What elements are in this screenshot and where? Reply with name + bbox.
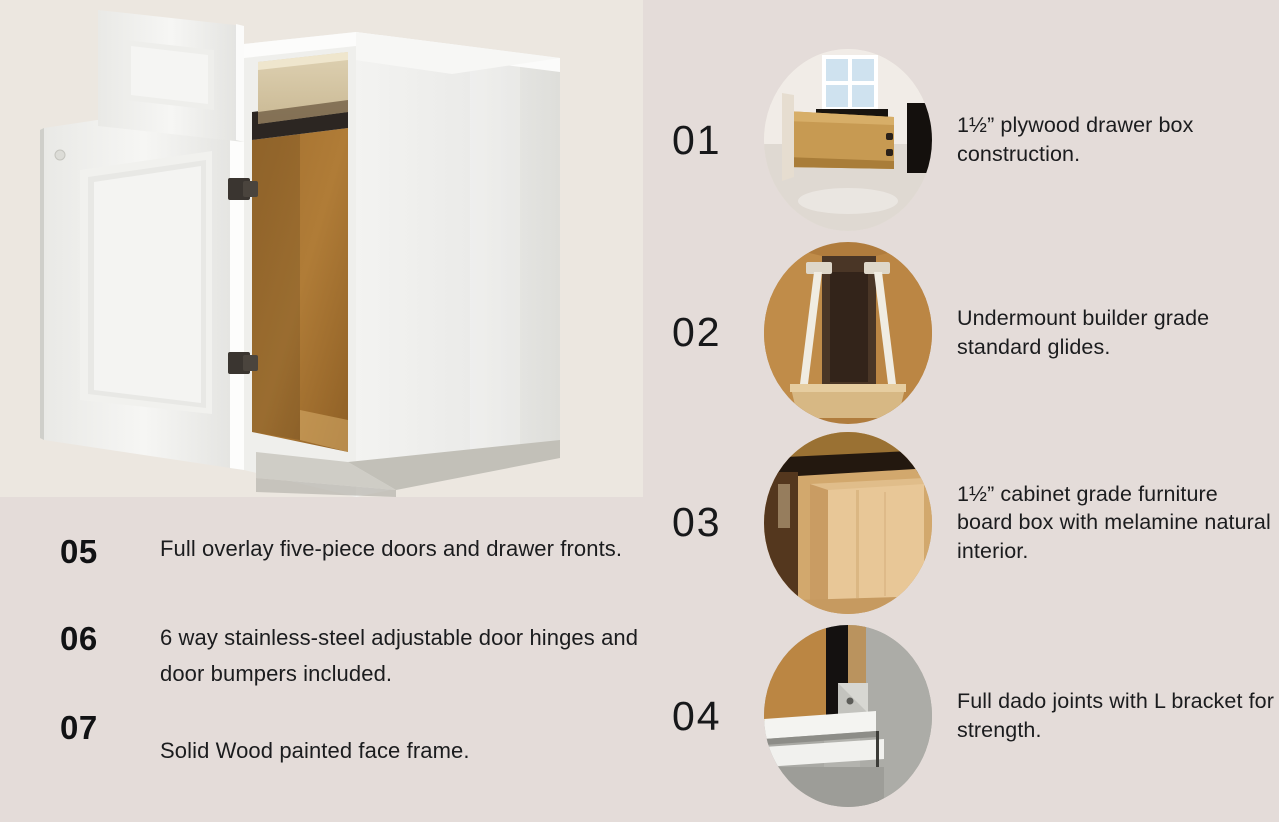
feature-text-06: 6 way stainless-steel adjustable door hi… bbox=[160, 620, 640, 691]
feature-item-04: 04 Full dado j bbox=[672, 620, 1279, 812]
feature-text-05: Full overlay five-piece doors and drawer… bbox=[160, 533, 640, 564]
feature-item-02: 02 Undermount builder grade standard gli… bbox=[672, 240, 1279, 425]
melamine-interior-photo bbox=[764, 432, 932, 614]
glides-illustration bbox=[764, 242, 932, 424]
feature-item-03: 03 1½” cabinet grade furniture board box… bbox=[672, 425, 1279, 620]
feature-item-05: 05 Full overlay five-piece doors and dra… bbox=[60, 533, 640, 572]
drawer-box-photo bbox=[764, 49, 932, 231]
feature-text-02: Undermount builder grade standard glides… bbox=[932, 304, 1279, 361]
feature-number-03: 03 bbox=[672, 502, 764, 543]
feature-text-04: Full dado joints with L bracket for stre… bbox=[932, 687, 1279, 744]
feature-item-07: 07 Solid Wood painted face frame. bbox=[60, 735, 640, 774]
melamine-box-illustration bbox=[764, 432, 932, 614]
undermount-glides-photo bbox=[764, 242, 932, 424]
feature-text-01: 1½” plywood drawer box construction. bbox=[932, 111, 1279, 168]
feature-text-03: 1½” cabinet grade furniture board box wi… bbox=[932, 480, 1279, 566]
dado-joint-bracket-photo bbox=[764, 625, 932, 807]
feature-number-05: 05 bbox=[60, 533, 160, 572]
cabinet-illustration bbox=[0, 0, 643, 497]
feature-item-06: 06 6 way stainless-steel adjustable door… bbox=[60, 620, 640, 691]
hero-cabinet-photo bbox=[0, 0, 643, 497]
feature-number-04: 04 bbox=[672, 696, 764, 737]
dado-bracket-illustration bbox=[764, 625, 932, 807]
feature-number-01: 01 bbox=[672, 120, 764, 161]
feature-number-02: 02 bbox=[672, 312, 764, 353]
feature-text-07: Solid Wood painted face frame. bbox=[160, 735, 640, 766]
feature-number-06: 06 bbox=[60, 620, 160, 659]
drawer-box-illustration bbox=[764, 49, 932, 231]
feature-item-01: 01 1½” plywood drawer box co bbox=[672, 40, 1279, 240]
feature-number-07: 07 bbox=[60, 709, 160, 748]
